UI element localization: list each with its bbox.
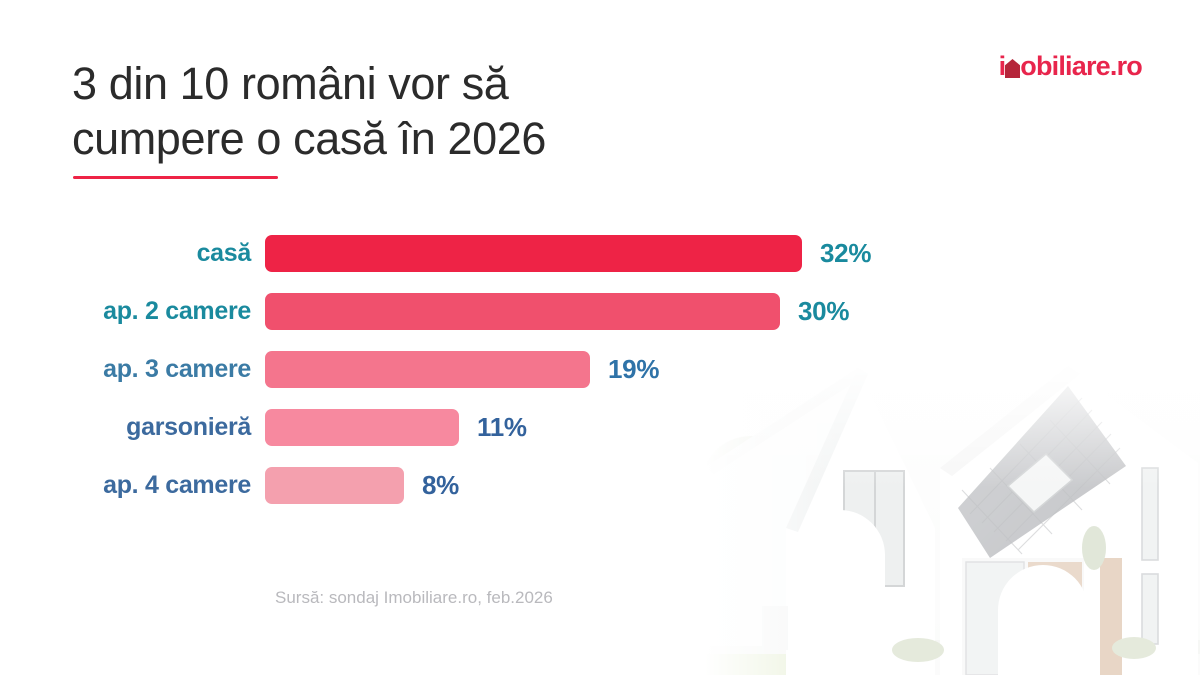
bar-wrap: 19% bbox=[265, 351, 659, 388]
arch-overlay-left bbox=[795, 510, 885, 675]
bar-ap-4-camere bbox=[265, 467, 404, 504]
title-accent-rule bbox=[73, 176, 278, 179]
bar-value-ap-3-camere: 19% bbox=[608, 351, 659, 388]
house-icon bbox=[1005, 59, 1020, 78]
bar-row: casă 32% bbox=[0, 235, 940, 293]
bar-value-ap-2-camere: 30% bbox=[798, 293, 849, 330]
bar-row: ap. 3 camere 19% bbox=[0, 351, 940, 409]
bar-value-casa: 32% bbox=[820, 235, 871, 272]
bar-label-casa: casă bbox=[0, 235, 265, 272]
page-title-line-2: cumpere o casă în 2026 bbox=[72, 111, 772, 166]
bar-label-ap-3-camere: ap. 3 camere bbox=[0, 351, 265, 388]
source-note: Sursă: sondaj Imobiliare.ro, feb.2026 bbox=[275, 588, 553, 608]
bar-wrap: 30% bbox=[265, 293, 849, 330]
page-title-line-1: 3 din 10 români vor să bbox=[72, 56, 772, 111]
bar-label-garsoniera: garsonieră bbox=[0, 409, 265, 446]
arch-overlay-right bbox=[998, 565, 1088, 675]
page-title: 3 din 10 români vor să cumpere o casă în… bbox=[72, 56, 772, 166]
bar-row: garsonieră 11% bbox=[0, 409, 940, 467]
bar-ap-2-camere bbox=[265, 293, 780, 330]
bar-value-garsoniera: 11% bbox=[477, 409, 527, 446]
imobiliare-logo[interactable]: i obiliare.ro bbox=[999, 51, 1142, 82]
bar-casa bbox=[265, 235, 802, 272]
bar-label-ap-4-camere: ap. 4 camere bbox=[0, 467, 265, 504]
bar-row: ap. 2 camere 30% bbox=[0, 293, 940, 351]
bar-row: ap. 4 camere 8% bbox=[0, 467, 940, 525]
bar-wrap: 11% bbox=[265, 409, 527, 446]
bar-label-ap-2-camere: ap. 2 camere bbox=[0, 293, 265, 330]
infographic-canvas: 3 din 10 români vor să cumpere o casă în… bbox=[0, 0, 1200, 675]
bar-value-ap-4-camere: 8% bbox=[422, 467, 459, 504]
bar-wrap: 32% bbox=[265, 235, 871, 272]
bar-garsoniera bbox=[265, 409, 459, 446]
logo-text-after: obiliare.ro bbox=[1020, 51, 1142, 82]
bar-ap-3-camere bbox=[265, 351, 590, 388]
logo-text-before: i bbox=[999, 51, 1006, 82]
bar-chart: casă 32% ap. 2 camere 30% ap. 3 camere 1… bbox=[0, 235, 940, 525]
bar-wrap: 8% bbox=[265, 467, 459, 504]
